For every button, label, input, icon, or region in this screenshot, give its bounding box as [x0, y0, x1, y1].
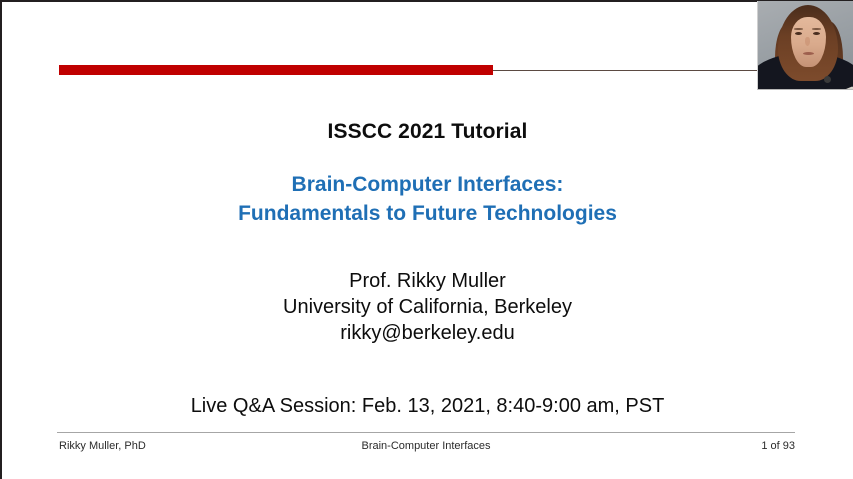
footer-divider — [57, 432, 795, 433]
presentation-slide: ISSCC 2021 Tutorial Brain-Computer Inter… — [0, 0, 853, 479]
presenter-nose — [805, 37, 810, 46]
footer-slide-number: 1 of 93 — [761, 440, 795, 452]
talk-title-line-2: Fundamentals to Future Technologies — [2, 199, 853, 228]
footer-deck-title: Brain-Computer Interfaces — [57, 440, 795, 452]
microphone-head-icon — [824, 76, 831, 83]
presenter-eyebrow-right — [812, 28, 821, 30]
event-title: ISSCC 2021 Tutorial — [2, 120, 853, 144]
slide-content: ISSCC 2021 Tutorial Brain-Computer Inter… — [2, 90, 853, 432]
presenter-eyebrow-left — [794, 28, 803, 30]
header-accent-bar — [59, 65, 493, 75]
talk-title: Brain-Computer Interfaces: Fundamentals … — [2, 170, 853, 228]
presenter-video-thumbnail[interactable] — [757, 1, 853, 90]
presenter-name: Prof. Rikky Muller — [2, 268, 853, 294]
slide-footer: Rikky Muller, PhD Brain-Computer Interfa… — [57, 440, 795, 456]
qa-session-info: Live Q&A Session: Feb. 13, 2021, 8:40-9:… — [2, 395, 853, 418]
presenter-affiliation: University of California, Berkeley — [2, 294, 853, 320]
presenter-email: rikky@berkeley.edu — [2, 320, 853, 346]
presenter-mouth — [803, 52, 814, 55]
talk-title-line-1: Brain-Computer Interfaces: — [292, 173, 564, 196]
window-top-border — [0, 0, 853, 2]
presenter-eye-right — [813, 32, 820, 35]
presenter-block: Prof. Rikky Muller University of Califor… — [2, 268, 853, 346]
presenter-eye-left — [795, 32, 802, 35]
